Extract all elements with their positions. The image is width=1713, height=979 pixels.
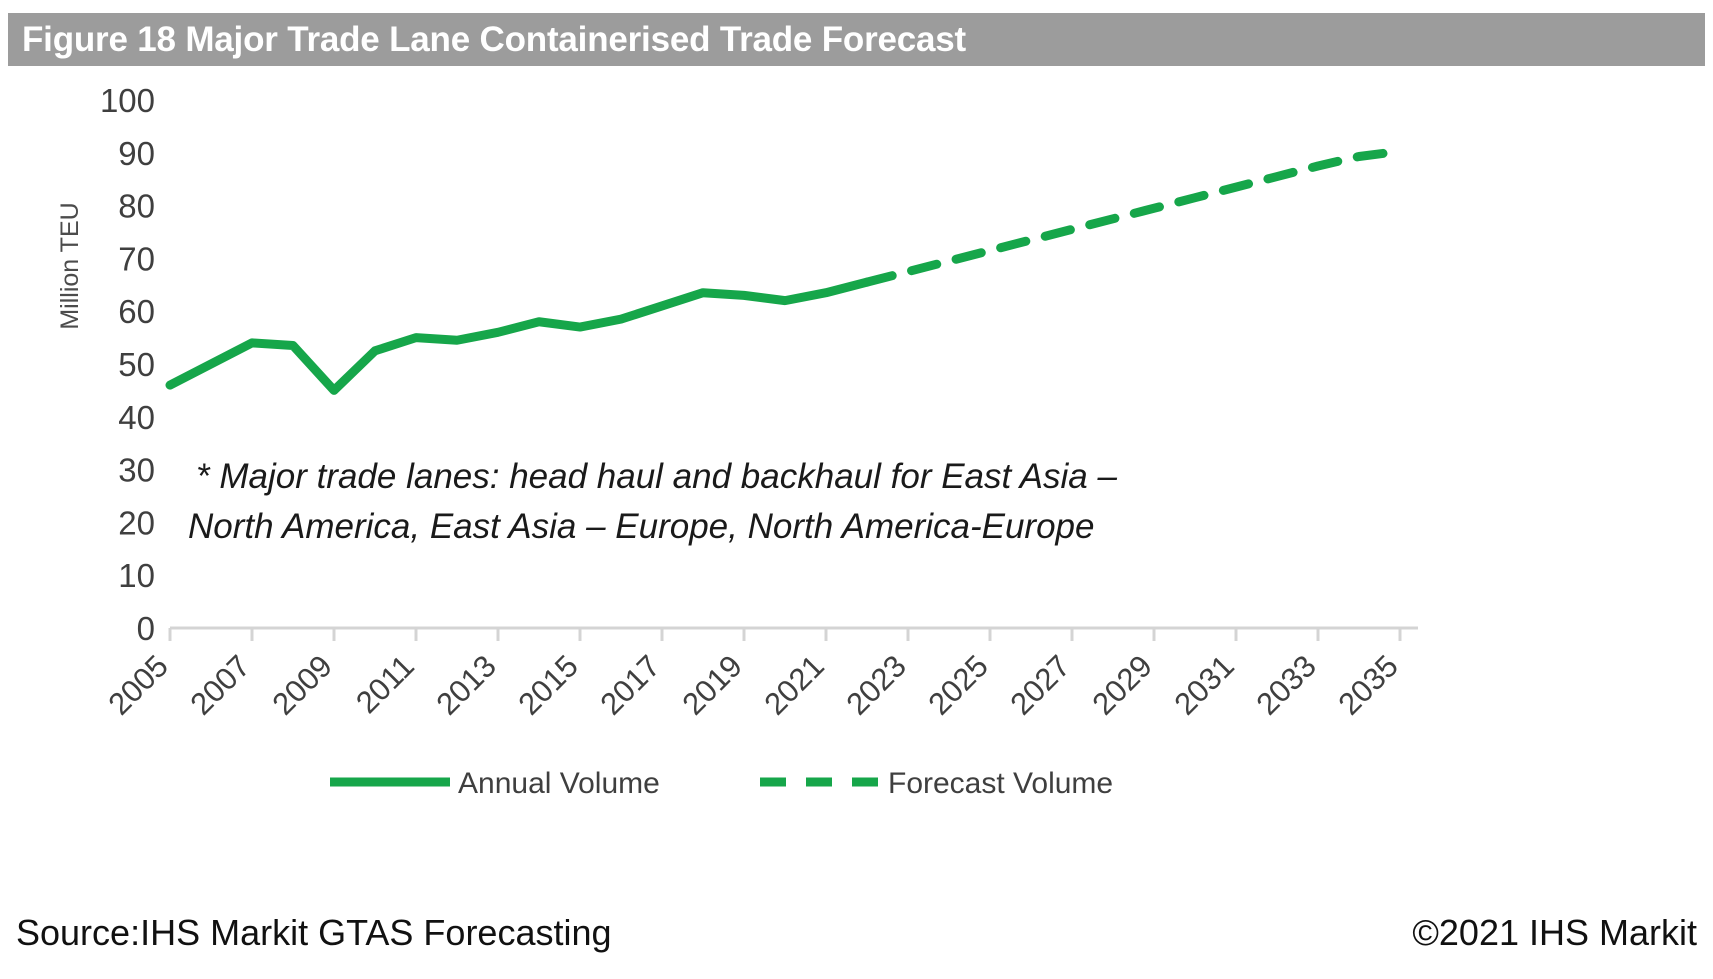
y-tick-label: 70 — [118, 240, 155, 277]
y-tick-label: 90 — [118, 135, 155, 172]
figure-title: Figure 18 Major Trade Lane Containerised… — [8, 20, 966, 60]
figure-footer: Source:IHS Markit GTAS Forecasting ©2021… — [0, 900, 1713, 979]
x-tick-label: 2029 — [1085, 648, 1159, 722]
x-tick-label: 2013 — [429, 648, 503, 722]
y-tick-label: 10 — [118, 557, 155, 594]
footer-copyright-text: ©2021 IHS Markit — [1412, 912, 1697, 954]
line-chart: Million TEU 0102030405060708090100 20052… — [0, 66, 1713, 896]
y-tick-label: 60 — [118, 293, 155, 330]
y-tick-label: 30 — [118, 452, 155, 489]
x-tick-label: 2015 — [511, 648, 585, 722]
figure-title-bar: Figure 18 Major Trade Lane Containerised… — [8, 13, 1705, 66]
x-tick-label: 2027 — [1003, 648, 1077, 722]
x-tick-label: 2017 — [593, 648, 667, 722]
x-tick-label: 2019 — [675, 648, 749, 722]
x-axis-ticks: 2005200720092011201320152017201920212023… — [101, 648, 1405, 722]
x-tick-label: 2023 — [839, 648, 913, 722]
x-tick-label: 2005 — [101, 648, 175, 722]
y-tick-label: 0 — [137, 610, 155, 647]
footer-source-text: Source:IHS Markit GTAS Forecasting — [16, 912, 612, 954]
figure-container: Figure 18 Major Trade Lane Containerised… — [0, 0, 1713, 979]
data-series — [170, 151, 1400, 390]
x-tick-label: 2011 — [349, 648, 421, 720]
x-tick-label: 2025 — [921, 648, 995, 722]
x-tick-label: 2033 — [1249, 648, 1323, 722]
x-tick-label: 2031 — [1167, 648, 1241, 722]
y-tick-label: 20 — [118, 504, 155, 541]
chart-legend: Annual VolumeForecast Volume — [330, 767, 1113, 800]
legend-label: Annual Volume — [458, 767, 660, 800]
y-tick-label: 40 — [118, 399, 155, 436]
axis-lines — [170, 628, 1418, 641]
x-tick-label: 2021 — [757, 648, 831, 722]
y-axis-title: Million TEU — [56, 202, 84, 329]
legend-label: Forecast Volume — [888, 767, 1113, 800]
y-tick-label: 80 — [118, 188, 155, 225]
y-tick-label: 50 — [118, 346, 155, 383]
annotation-line-1: * Major trade lanes: head haul and backh… — [196, 457, 1117, 496]
annual-volume-line — [170, 282, 867, 390]
annotation-line-2: North America, East Asia – Europe, North… — [188, 507, 1094, 546]
forecast-volume-line — [867, 151, 1400, 282]
y-axis-ticks: 0102030405060708090100 — [100, 82, 155, 647]
x-tick-label: 2007 — [183, 648, 257, 722]
x-tick-label: 2035 — [1331, 648, 1405, 722]
x-tick-label: 2009 — [265, 648, 339, 722]
y-tick-label: 100 — [100, 82, 155, 119]
chart-area: Million TEU 0102030405060708090100 20052… — [0, 66, 1713, 896]
